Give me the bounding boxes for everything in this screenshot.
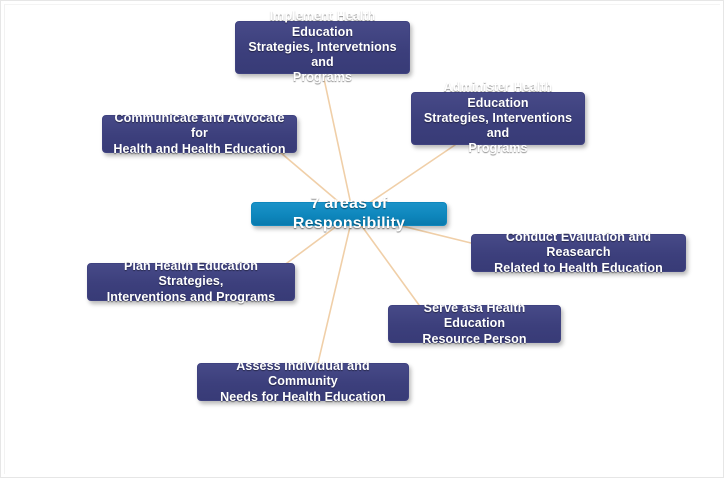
- branch-node-conduct[interactable]: Conduct Evaluation and ReasearchRelated …: [471, 234, 686, 272]
- branch-node-label: Implement Health EducationStrategies, In…: [244, 9, 401, 85]
- branch-node-label: Administer Health EducationStrategies, I…: [420, 80, 576, 156]
- center-node-label: 7 areas of Responsibility: [260, 194, 438, 233]
- branch-node-label: Plan Health Education Strategies,Interve…: [96, 259, 286, 305]
- branch-node-label: Communicate and Advocate forHealth and H…: [111, 111, 288, 157]
- branch-node-label: Conduct Evaluation and ReasearchRelated …: [480, 230, 677, 276]
- branch-node-communicate[interactable]: Communicate and Advocate forHealth and H…: [102, 115, 297, 153]
- branch-node-plan[interactable]: Plan Health Education Strategies,Interve…: [87, 263, 295, 301]
- branch-node-administer[interactable]: Administer Health EducationStrategies, I…: [411, 92, 585, 145]
- center-node[interactable]: 7 areas of Responsibility: [251, 202, 447, 226]
- branch-node-serve[interactable]: Serve asa Health EducationResource Perso…: [388, 305, 561, 343]
- branch-node-label: Serve asa Health EducationResource Perso…: [397, 301, 552, 347]
- branch-node-label: Assess Individual and CommunityNeeds for…: [206, 359, 400, 405]
- branch-node-implement[interactable]: Implement Health EducationStrategies, In…: [235, 21, 410, 74]
- branch-node-assess[interactable]: Assess Individual and CommunityNeeds for…: [197, 363, 409, 401]
- diagram-canvas: 7 areas of Responsibility Implement Heal…: [0, 0, 724, 478]
